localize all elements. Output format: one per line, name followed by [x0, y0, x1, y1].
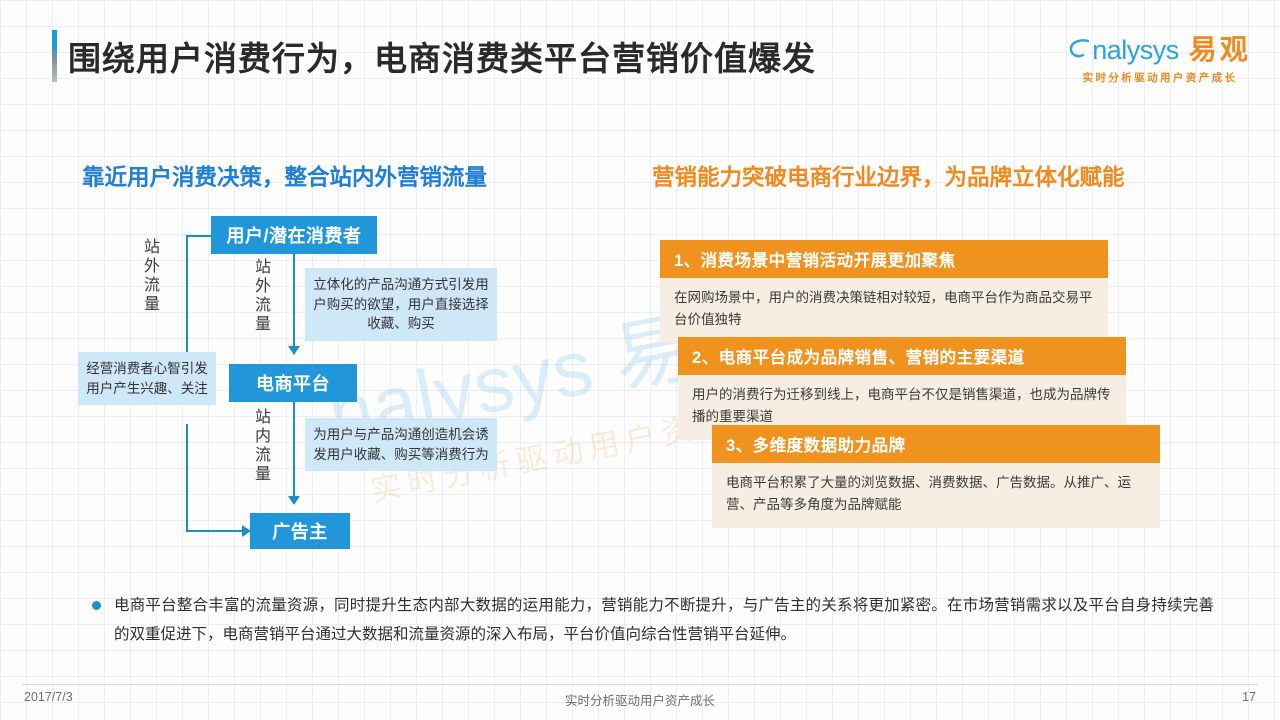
analysys-logo: nalysys 易观 实时分析驱动用户资产成长 [1062, 28, 1258, 85]
summary-note-text: 电商平台整合丰富的流量资源，同时提升生态内部大数据的运用能力，营销能力不断提升，… [114, 592, 1214, 649]
logo-wordmark: nalysys 易观 [1062, 28, 1258, 68]
left-section-heading: 靠近用户消费决策，整合站内外营销流量 [82, 160, 487, 192]
card-item-1[interactable]: 1、消费场景中营销活动开展更加聚焦 在网购场景中，用户的消费决策链相对较短，电商… [660, 240, 1108, 343]
logo-cn-text: 易观 [1189, 28, 1251, 68]
diagram-note-top: 立体化的产品沟通方式引发用户购买的欲望，用户直接选择收藏、购买 [305, 268, 497, 341]
diagram-note-bottom: 为用户与产品沟通创造机会诱发用户收藏、购买等消费行为 [305, 418, 497, 471]
right-section-heading: 营销能力突破电商行业边界，为品牌立体化赋能 [652, 160, 1125, 192]
footer-divider [22, 684, 1258, 685]
connector-left-lower-vertical [186, 424, 188, 531]
node-advertiser[interactable]: 广告主 [250, 513, 350, 549]
page-title: 围绕用户消费行为，电商消费类平台营销价值爆发 [68, 32, 816, 80]
connector-left-to-advertiser [186, 530, 242, 532]
footer-center-text: 实时分析驱动用户资产成长 [0, 690, 1280, 709]
connector-user-to-platform [293, 254, 295, 346]
card-1-body: 在网购场景中，用户的消费决策链相对较短，电商平台作为商品交易平台价值独特 [660, 278, 1108, 343]
diagram-note-middle: 经营消费者心智引发用户产生兴趣、关注 [78, 352, 216, 405]
card-2-title: 2、电商平台成为品牌销售、营销的主要渠道 [678, 337, 1126, 375]
card-3-title: 3、多维度数据助力品牌 [712, 425, 1160, 463]
connector-left-upper-vertical [186, 235, 188, 352]
flow-label-offsite-right: 站外流量 [252, 258, 268, 334]
flow-label-offsite-left: 站外流量 [141, 238, 157, 314]
arrowhead-user-to-platform [288, 346, 300, 355]
connector-platform-to-advertiser [293, 402, 295, 496]
summary-note: 电商平台整合丰富的流量资源，同时提升生态内部大数据的运用能力，营销能力不断提升，… [92, 592, 1214, 649]
bullet-dot-icon [92, 601, 101, 610]
logo-swirl-icon [1069, 37, 1091, 59]
card-item-3[interactable]: 3、多维度数据助力品牌 电商平台积累了大量的浏览数据、消费数据、广告数据。从推广… [712, 425, 1160, 528]
title-accent-bar [52, 30, 57, 82]
slide-canvas: nalysys 易观 实时分析驱动用户资产成长 围绕用户消费行为，电商消费类平台… [0, 0, 1280, 720]
node-user[interactable]: 用户/潜在消费者 [211, 216, 377, 254]
connector-user-left-stub [186, 235, 213, 237]
arrowhead-platform-to-advertiser [288, 496, 300, 505]
node-platform[interactable]: 电商平台 [229, 364, 357, 402]
logo-tagline: 实时分析驱动用户资产成长 [1062, 70, 1258, 85]
logo-en-text: nalysys [1092, 35, 1179, 66]
card-3-body: 电商平台积累了大量的浏览数据、消费数据、广告数据。从推广、运营、产品等多角度为品… [712, 463, 1160, 528]
card-1-title: 1、消费场景中营销活动开展更加聚焦 [660, 240, 1108, 278]
flow-label-onsite: 站内流量 [252, 408, 268, 484]
footer-page-number: 17 [1242, 690, 1256, 704]
